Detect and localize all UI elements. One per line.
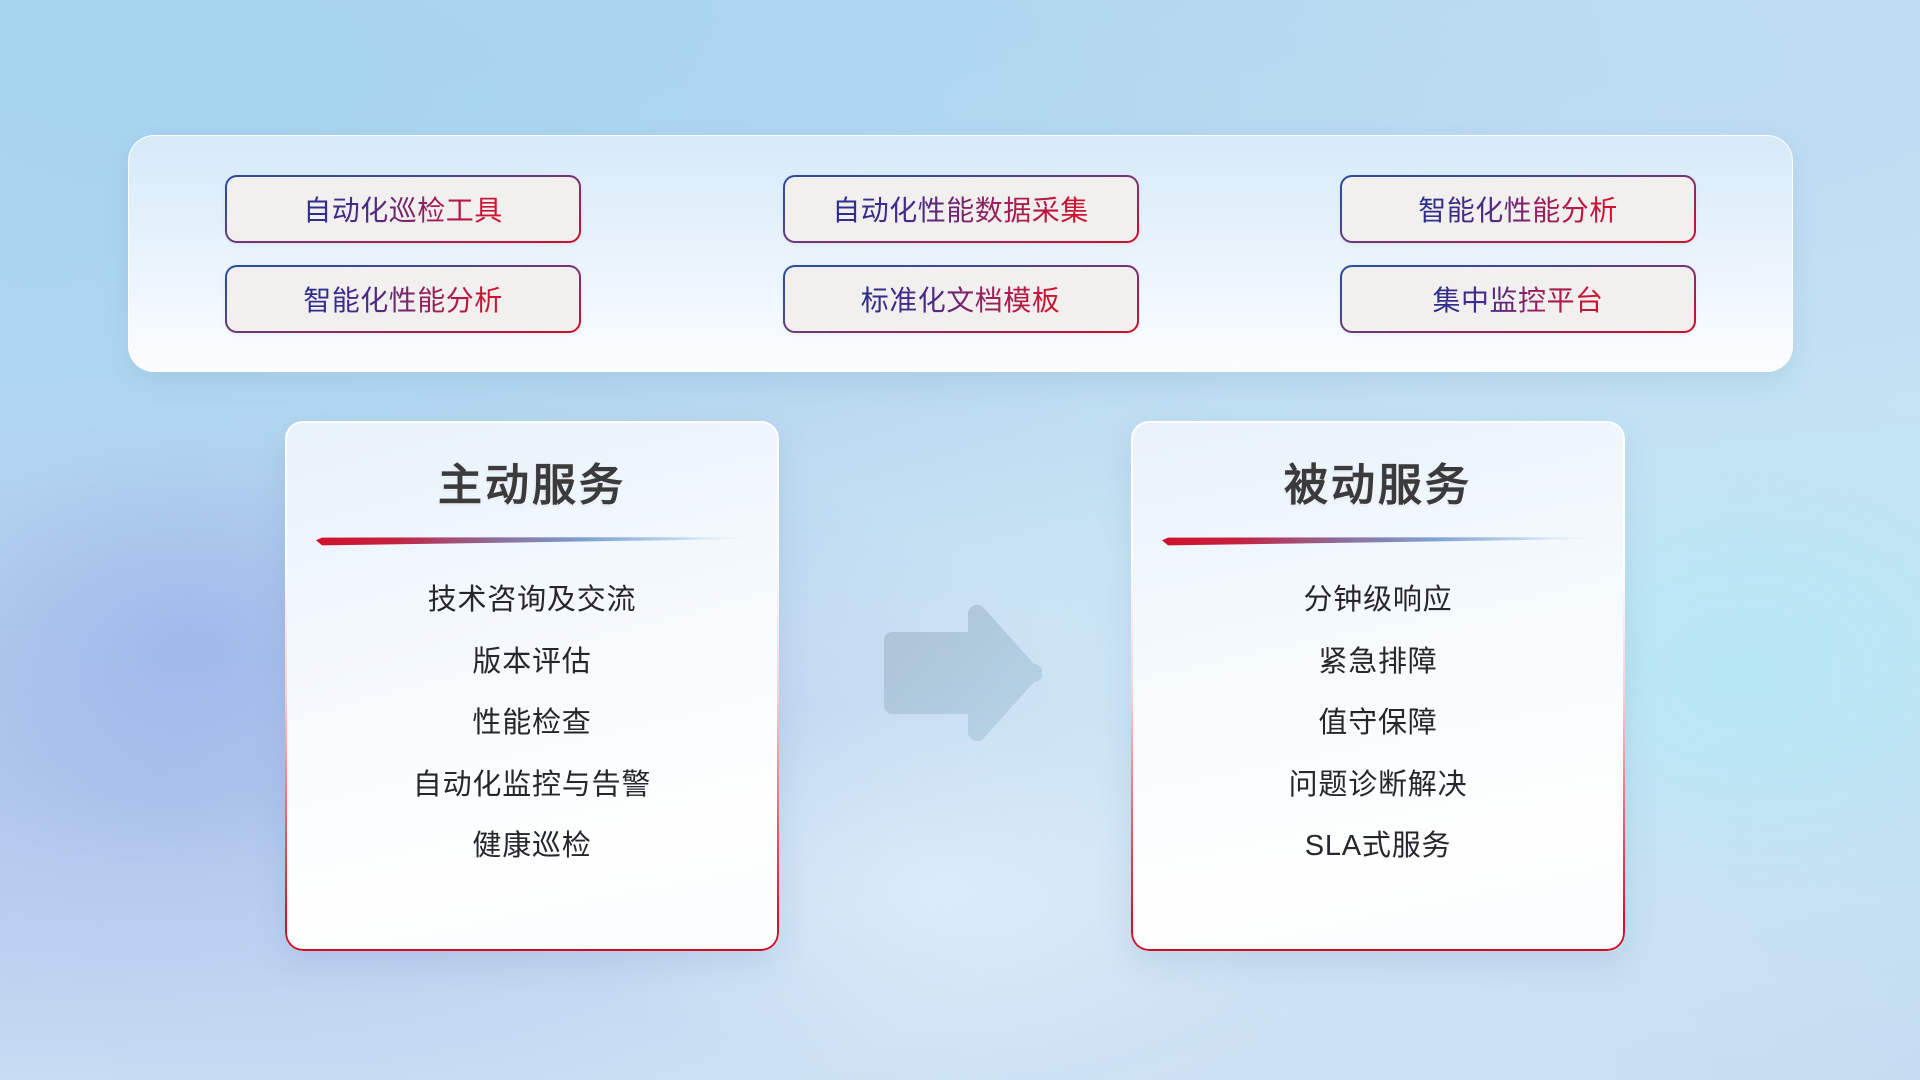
- card-list-item: 技术咨询及交流: [428, 579, 637, 623]
- capabilities-row-1: 自动化巡检工具 自动化性能数据采集 智能化性能分析: [169, 175, 1752, 243]
- card-list-item: 健康巡检: [472, 825, 591, 869]
- card-list-item: 紧急排障: [1318, 641, 1437, 685]
- capability-pill-label: 标准化文档模板: [861, 279, 1061, 319]
- capabilities-panel: 自动化巡检工具 自动化性能数据采集 智能化性能分析 智能化性能分析 标准化文档模…: [128, 135, 1793, 372]
- capability-pill-label: 智能化性能分析: [1418, 189, 1618, 229]
- capability-pill-2[interactable]: 自动化性能数据采集: [783, 175, 1139, 243]
- capability-pill-label: 自动化巡检工具: [303, 189, 503, 229]
- divider-wedge-icon: [1162, 537, 1594, 547]
- card-list-item: 问题诊断解决: [1289, 764, 1468, 808]
- card-item-list: 技术咨询及交流 版本评估 性能检查 自动化监控与告警 健康巡检: [285, 579, 779, 869]
- service-card-proactive: 主动服务: [285, 421, 779, 951]
- capabilities-row-2: 智能化性能分析 标准化文档模板 集中监控平台: [169, 265, 1752, 333]
- card-divider: [316, 537, 748, 547]
- capability-pill-1[interactable]: 自动化巡检工具: [225, 175, 581, 243]
- capability-pill-4[interactable]: 智能化性能分析: [225, 265, 581, 333]
- capability-pill-label: 自动化性能数据采集: [832, 189, 1089, 229]
- card-title: 被动服务: [1284, 449, 1472, 513]
- capability-pill-5[interactable]: 标准化文档模板: [783, 265, 1139, 333]
- card-list-item: 分钟级响应: [1303, 579, 1452, 623]
- card-list-item: SLA式服务: [1305, 825, 1452, 869]
- capability-pill-label: 智能化性能分析: [303, 279, 503, 319]
- service-card-reactive: 被动服务: [1131, 421, 1625, 951]
- capability-pill-6[interactable]: 集中监控平台: [1340, 265, 1696, 333]
- card-content: 主动服务: [285, 421, 779, 951]
- card-item-list: 分钟级响应 紧急排障 值守保障 问题诊断解决 SLA式服务: [1131, 579, 1625, 869]
- card-list-item: 性能检查: [472, 702, 591, 746]
- card-content: 被动服务: [1131, 421, 1625, 951]
- divider-wedge-icon: [316, 537, 748, 547]
- card-list-item: 自动化监控与告警: [413, 764, 651, 808]
- arrow-right-icon: [876, 602, 1042, 744]
- capability-pill-label: 集中监控平台: [1432, 279, 1603, 319]
- card-title: 主动服务: [438, 449, 626, 513]
- card-list-item: 值守保障: [1318, 702, 1437, 746]
- arrow-right-shape: [876, 602, 1042, 744]
- slide-stage: 自动化巡检工具 自动化性能数据采集 智能化性能分析 智能化性能分析 标准化文档模…: [0, 0, 1920, 1080]
- card-list-item: 版本评估: [472, 641, 591, 685]
- capability-pill-3[interactable]: 智能化性能分析: [1340, 175, 1696, 243]
- card-divider: [1162, 537, 1594, 547]
